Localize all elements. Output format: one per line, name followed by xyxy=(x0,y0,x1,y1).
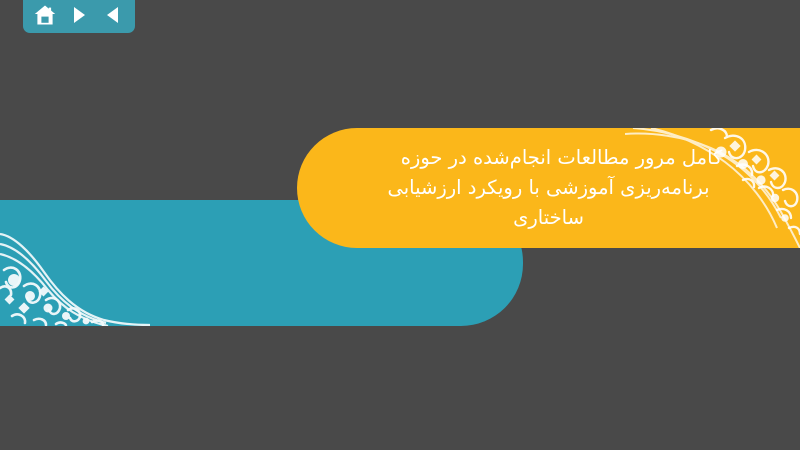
arabesque-ornament-bottom-left-icon xyxy=(0,200,150,326)
home-button[interactable] xyxy=(32,3,58,27)
title-line-2: برنامه‌ریزی آموزشی با رویکرد ارزشیابی xyxy=(388,174,710,202)
slide-title: کامل مرور مطالعات انجام‌شده در حوزه برنا… xyxy=(297,128,800,248)
triangle-left-icon xyxy=(105,6,121,24)
home-icon xyxy=(34,5,56,26)
title-line-1: کامل مرور مطالعات انجام‌شده در حوزه xyxy=(401,144,723,172)
title-card: کامل مرور مطالعات انجام‌شده در حوزه برنا… xyxy=(297,128,800,248)
triangle-right-icon xyxy=(71,6,87,24)
slide-canvas: کامل مرور مطالعات انجام‌شده در حوزه برنا… xyxy=(0,0,800,450)
back-button[interactable] xyxy=(100,3,126,27)
navigation-bar xyxy=(23,0,135,33)
forward-button[interactable] xyxy=(66,3,92,27)
title-line-3: ساختاری xyxy=(513,204,584,232)
